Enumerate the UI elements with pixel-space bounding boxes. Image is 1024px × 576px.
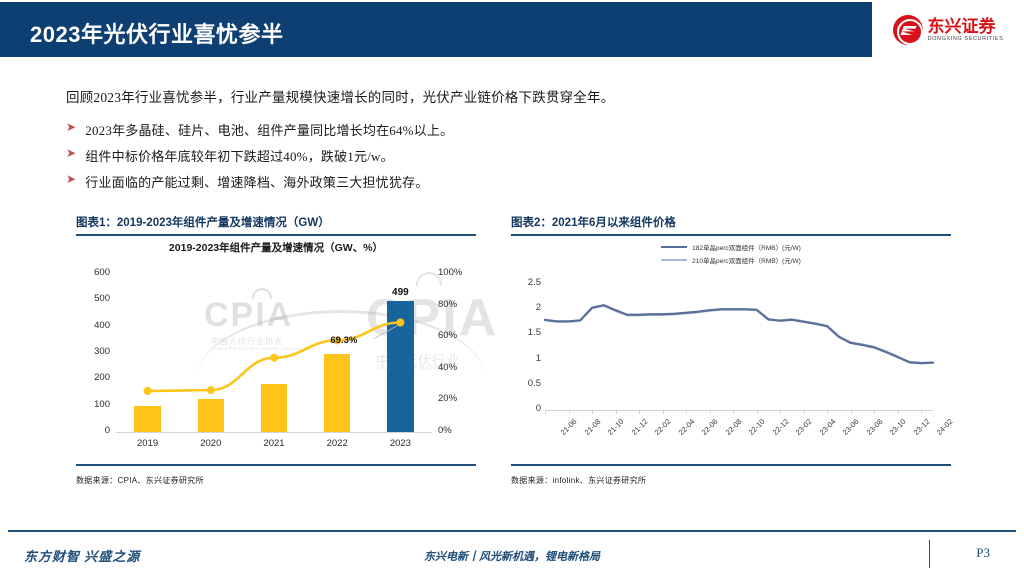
bar-chart-x-tick: 2020	[185, 438, 237, 449]
line-chart-x-tickmark	[710, 410, 711, 414]
list-item: ➤ 2023年多晶硅、硅片、电池、组件产量同比增长均在64%以上。	[66, 120, 766, 139]
bar-chart-y-tick: 500	[76, 293, 110, 304]
bar-chart-bar	[134, 406, 161, 432]
line-chart-x-tickmark	[874, 410, 875, 414]
dongxing-logo-icon	[893, 15, 923, 45]
list-item: ➤ 行业面临的产能过剩、增速降档、海外政策三大担忧犹存。	[66, 172, 766, 191]
figure-1-panel: 图表1：2019-2023年组件产量及增速情况（GW） 2019-2023年组件…	[76, 214, 476, 499]
figure-1-bottom-rule	[76, 464, 476, 466]
line-chart-x-tickmark	[545, 410, 546, 414]
line-chart-x-tick: 21-08	[582, 417, 602, 437]
cpia-watermark-sun-icon	[252, 288, 272, 299]
figure-2-source: 数据来源：infolink、东兴证券研究所	[511, 475, 951, 486]
bar-chart-y-tick: 600	[76, 267, 110, 278]
bar-chart-y-tick: 0	[76, 425, 110, 436]
logo-name-en: DONGXING SECURITIES	[928, 37, 1004, 43]
production-bar-chart: 2019-2023年组件产量及增速情况（GW、%） CPIA 中国光伏行业协会 …	[76, 236, 476, 462]
arrow-bullet-icon: ➤	[66, 146, 76, 161]
line-chart-x-tick: 23-10	[888, 417, 908, 437]
line-chart-x-tick: 22-02	[653, 417, 673, 437]
figure-1-title: 图表1：2019-2023年组件产量及增速情况（GW）	[76, 214, 476, 234]
bar-chart-y2-tick: 60%	[438, 330, 476, 341]
line-chart-x-tickmark	[780, 410, 781, 414]
bar-chart-y-tick: 200	[76, 372, 110, 383]
footer-divider	[929, 540, 930, 568]
line-chart-x-tick: 23-06	[841, 417, 861, 437]
slide-header: 2023年光伏行业喜忧参半 东兴证券 DONGXING SECURITIES	[0, 0, 1024, 60]
bar-chart-y-tick: 300	[76, 346, 110, 357]
bar-chart-bar	[324, 354, 351, 432]
bar-chart-x-tick: 2021	[248, 438, 300, 449]
bar-value-label: 499	[376, 287, 424, 298]
bar-chart-y-tick: 100	[76, 399, 110, 410]
bar-chart-y2-tick: 0%	[438, 425, 476, 436]
logo-name-cn: 东兴证券	[928, 18, 1004, 35]
figure-2-bottom-rule	[511, 464, 951, 466]
arrow-bullet-icon: ➤	[66, 172, 76, 187]
figure-2-body: 182单晶perc双面组件（RMB）(元/W)210单晶perc双面组件（RMB…	[511, 236, 951, 486]
legend-label: 210单晶perc双面组件（RMB）(元/W)	[692, 255, 801, 265]
module-price-line-chart: 182单晶perc双面组件（RMB）(元/W)210单晶perc双面组件（RMB…	[511, 236, 951, 462]
bar-chart-y2-tick: 20%	[438, 393, 476, 404]
bar-chart-x-tick: 2022	[311, 438, 363, 449]
bullet-list: ➤ 2023年多晶硅、硅片、电池、组件产量同比增长均在64%以上。 ➤ 组件中标…	[66, 120, 766, 198]
line-chart-x-tick: 23-04	[817, 417, 837, 437]
cpia-watermark-en: China Photovoltaic Industry Association	[214, 346, 308, 351]
intro-paragraph: 回顾2023年行业喜忧参半，行业产量规模快速增长的同时，光伏产业链价格下跌贯穿全…	[66, 86, 614, 106]
line-chart-plot: 00.511.522.521-0621-0821-1021-1222-0222-…	[511, 278, 951, 462]
legend-label: 182单晶perc双面组件（RMB）(元/W)	[692, 242, 801, 252]
bar-chart-title: 2019-2023年组件产量及增速情况（GW、%）	[76, 240, 476, 255]
list-item-text: 组件中标价格年底较年初下跌超过40%，跌破1元/w。	[85, 146, 394, 165]
cpia-watermark-cn: 中国光伏行业协会	[211, 336, 283, 347]
bar-chart-axis-line	[116, 432, 432, 433]
line-chart-x-tickmark	[851, 410, 852, 414]
line-chart-x-tickmark	[686, 410, 687, 414]
line-chart-x-tickmark	[827, 410, 828, 414]
line-chart-x-tick: 23-12	[911, 417, 931, 437]
line-chart-x-tick: 24-02	[935, 417, 955, 437]
line-chart-y-tick: 0	[511, 403, 541, 414]
line-chart-x-tick: 21-12	[629, 417, 649, 437]
line-chart-x-tick: 23-02	[794, 417, 814, 437]
line-chart-y-tick: 1.5	[511, 327, 541, 338]
cpia-watermark-text: CPIA	[204, 296, 293, 335]
line-chart-x-tick: 22-08	[723, 417, 743, 437]
legend-item: 182单晶perc双面组件（RMB）(元/W)	[661, 242, 801, 252]
line-chart-x-tickmark	[569, 410, 570, 414]
figure-1-source: 数据来源：CPIA、东兴证券研究所	[76, 475, 476, 486]
line-chart-legend: 182单晶perc双面组件（RMB）(元/W)210单晶perc双面组件（RMB…	[511, 242, 951, 265]
line-chart-x-tick: 22-10	[747, 417, 767, 437]
growth-rate-label: 69.3%	[330, 335, 357, 346]
bar-chart-y2-tick: 80%	[438, 299, 476, 310]
line-chart-x-tickmark	[663, 410, 664, 414]
list-item-text: 行业面临的产能过剩、增速降档、海外政策三大担忧犹存。	[85, 172, 428, 191]
figure-1-body: 2019-2023年组件产量及增速情况（GW、%） CPIA 中国光伏行业协会 …	[76, 236, 476, 486]
line-chart-y-tick: 1	[511, 353, 541, 364]
line-chart-x-tick: 21-06	[559, 417, 579, 437]
bar-chart-x-tick: 2023	[374, 438, 426, 449]
brand-logo: 东兴证券 DONGXING SECURITIES	[872, 0, 1024, 60]
bar-chart-bar	[387, 301, 414, 432]
slide: 2023年光伏行业喜忧参半 东兴证券 DONGXING SECURITIES 回…	[0, 0, 1024, 576]
bar-chart-y2-tick: 40%	[438, 362, 476, 373]
bar-chart-y-tick: 400	[76, 320, 110, 331]
footer-rule	[8, 530, 1016, 532]
bar-chart-bar	[198, 399, 225, 432]
legend-item: 210单晶perc双面组件（RMB）(元/W)	[661, 255, 801, 265]
arrow-bullet-icon: ➤	[66, 120, 76, 135]
page-title: 2023年光伏行业喜忧参半	[30, 17, 283, 49]
figure-2-title: 图表2：2021年6月以来组件价格	[511, 214, 951, 234]
line-chart-x-tickmark	[733, 410, 734, 414]
line-chart-y-tick: 2	[511, 302, 541, 313]
figure-2-panel: 图表2：2021年6月以来组件价格 182单晶perc双面组件（RMB）(元/W…	[511, 214, 951, 499]
footer-report-name: 东兴电新丨风光新机遇，锂电新格局	[0, 548, 1024, 564]
legend-color-swatch	[661, 246, 687, 249]
legend-color-swatch	[661, 259, 687, 262]
line-chart-y-tick: 2.5	[511, 277, 541, 288]
line-chart-x-tickmark	[639, 410, 640, 414]
bar-chart-plot: CPIA 中国光伏行业协会 China Photovoltaic Industr…	[76, 258, 476, 462]
bar-chart-y2-tick: 100%	[438, 267, 476, 278]
bar-chart-x-tick: 2019	[122, 438, 174, 449]
slide-footer: 东方财智 兴盛之源 东兴电新丨风光新机遇，锂电新格局 P3	[0, 530, 1024, 576]
list-item-text: 2023年多晶硅、硅片、电池、组件产量同比增长均在64%以上。	[85, 120, 453, 139]
line-chart-x-tickmark	[898, 410, 899, 414]
line-chart-y-tick: 0.5	[511, 378, 541, 389]
line-chart-x-tick: 22-04	[676, 417, 696, 437]
line-chart-x-tick: 21-10	[606, 417, 626, 437]
line-chart-x-tickmark	[616, 410, 617, 414]
bar-chart-bar	[261, 384, 288, 432]
line-chart-x-tick: 23-08	[864, 417, 884, 437]
list-item: ➤ 组件中标价格年底较年初下跌超过40%，跌破1元/w。	[66, 146, 766, 165]
line-chart-x-tick: 22-12	[770, 417, 790, 437]
page-number: P3	[976, 545, 990, 561]
line-chart-x-tick: 22-06	[700, 417, 720, 437]
line-chart-x-tickmark	[921, 410, 922, 414]
line-chart-x-tickmark	[804, 410, 805, 414]
line-chart-x-tickmark	[757, 410, 758, 414]
line-chart-x-tickmark	[592, 410, 593, 414]
